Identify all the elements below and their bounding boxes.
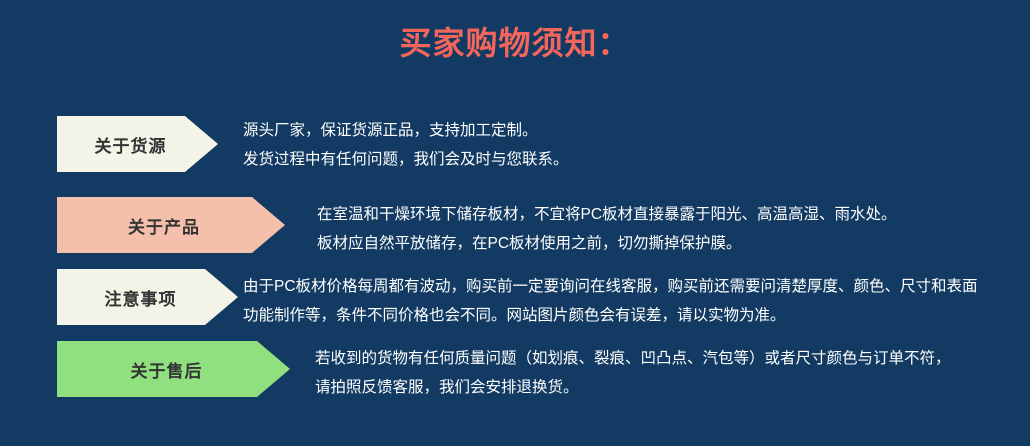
section-label-badge-aftersales: 关于售后	[57, 341, 290, 397]
section-body-aftersales: 若收到的货物有任何质量问题（如划痕、裂痕、凹凸点、汽包等）或者尺寸颜色与订单不符…	[315, 344, 951, 402]
body-line: 板材应自然平放储存，在PC板材使用之前，切勿撕掉保护膜。	[317, 229, 897, 258]
notice-section-product: 关于产品 在室温和干燥环境下储存板材，不宜将PC板材直接暴露于阳光、高温高湿、雨…	[0, 197, 1030, 259]
section-label-text: 关于售后	[131, 357, 217, 382]
section-label-badge-product: 关于产品	[57, 197, 285, 253]
section-body-cautions: 由于PC板材价格每周都有波动，购买前一定要询问在线客服，购买前还需要问清楚厚度、…	[243, 272, 978, 330]
notice-section-aftersales: 关于售后 若收到的货物有任何质量问题（如划痕、裂痕、凹凸点、汽包等）或者尺寸颜色…	[0, 341, 1030, 403]
body-line: 由于PC板材价格每周都有波动，购买前一定要询问在线客服，购买前还需要问清楚厚度、…	[243, 272, 978, 301]
section-body-product: 在室温和干燥环境下储存板材，不宜将PC板材直接暴露于阳光、高温高湿、雨水处。 板…	[317, 200, 897, 258]
notice-section-source: 关于货源 源头厂家，保证货源正品，支持加工定制。 发货过程中有任何问题，我们会及…	[0, 116, 1030, 178]
section-label-text: 关于货源	[95, 132, 181, 157]
section-body-source: 源头厂家，保证货源正品，支持加工定制。 发货过程中有任何问题，我们会及时与您联系…	[243, 116, 569, 174]
section-label-text: 注意事项	[105, 285, 191, 310]
section-label-badge-cautions: 注意事项	[57, 269, 238, 325]
body-line: 若收到的货物有任何质量问题（如划痕、裂痕、凹凸点、汽包等）或者尺寸颜色与订单不符…	[315, 344, 951, 373]
buyer-notice-banner: 买家购物须知： 关于货源 源头厂家，保证货源正品，支持加工定制。 发货过程中有任…	[0, 0, 1030, 446]
section-label-badge-source: 关于货源	[57, 116, 218, 172]
body-line: 在室温和干燥环境下储存板材，不宜将PC板材直接暴露于阳光、高温高湿、雨水处。	[317, 200, 897, 229]
body-line: 发货过程中有任何问题，我们会及时与您联系。	[243, 145, 569, 174]
notice-section-cautions: 注意事项 由于PC板材价格每周都有波动，购买前一定要询问在线客服，购买前还需要问…	[0, 269, 1030, 331]
body-line: 源头厂家，保证货源正品，支持加工定制。	[243, 116, 569, 145]
body-line: 功能制作等，条件不同价格也会不同。网站图片颜色会有误差，请以实物为准。	[243, 301, 978, 330]
page-title: 买家购物须知：	[0, 20, 1030, 66]
section-label-text: 关于产品	[128, 213, 214, 238]
body-line: 请拍照反馈客服，我们会安排退换货。	[315, 373, 951, 402]
